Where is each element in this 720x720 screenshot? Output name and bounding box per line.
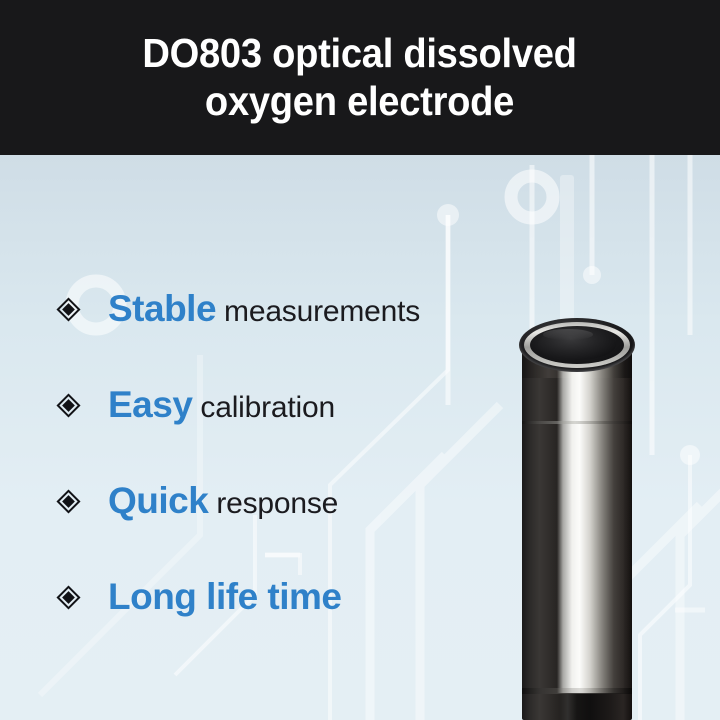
collar-seam	[522, 421, 632, 424]
feature-keyword: Easy	[108, 384, 192, 425]
page-title: DO803 optical dissolved oxygen electrode	[106, 30, 615, 125]
feature-detail: response	[208, 487, 338, 520]
diamond-bullet-icon	[56, 393, 82, 419]
feature-keyword: Quick	[108, 480, 208, 521]
feature-item-quick: Quickresponse	[56, 453, 500, 549]
feature-text: Easycalibration	[108, 384, 335, 426]
diamond-bullet-icon	[56, 297, 82, 323]
chrome-highlight	[557, 348, 632, 693]
diamond-bullet-icon	[56, 585, 82, 611]
feature-list: Stablemeasurements Easycalibration Quick…	[0, 155, 500, 720]
feature-text: Stablemeasurements	[108, 288, 420, 330]
feature-text: Long life time	[108, 576, 342, 618]
collar-lower-edge	[522, 688, 632, 694]
feature-keyword: Stable	[108, 288, 216, 329]
probe-chrome-collar	[522, 348, 632, 693]
probe-body-highlight	[560, 694, 577, 720]
feature-keyword: Long life time	[108, 576, 342, 617]
electrode-product-image	[519, 318, 635, 720]
feature-text: Quickresponse	[108, 480, 338, 522]
feature-item-long-life-time: Long life time	[56, 549, 500, 645]
sensor-cap-gloss	[543, 329, 593, 340]
header-bar: DO803 optical dissolved oxygen electrode	[0, 0, 720, 155]
feature-item-easy: Easycalibration	[56, 357, 500, 453]
feature-detail: calibration	[192, 391, 335, 424]
feature-item-stable: Stablemeasurements	[56, 261, 500, 357]
diamond-bullet-icon	[56, 489, 82, 515]
product-feature-banner: DO803 optical dissolved oxygen electrode	[0, 0, 720, 720]
sensor-cap	[519, 318, 635, 372]
feature-detail: measurements	[216, 295, 420, 328]
